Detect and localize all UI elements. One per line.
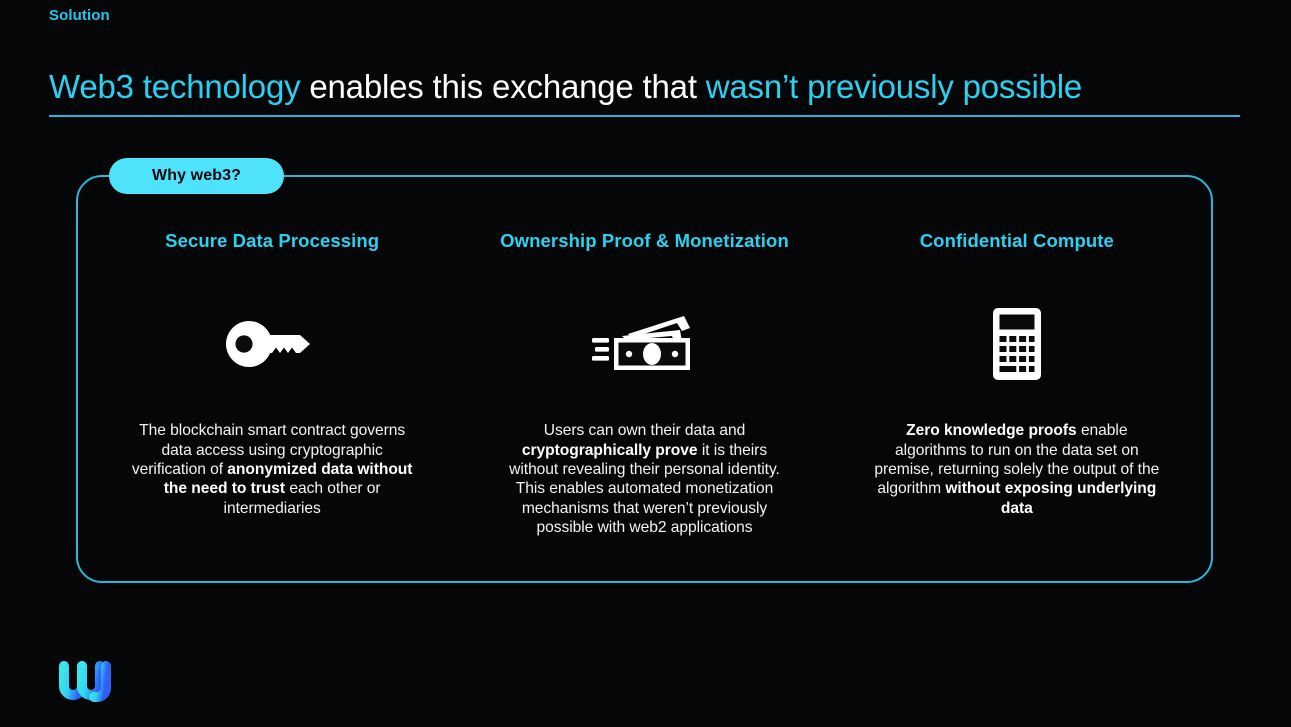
slide-kicker: Solution bbox=[49, 7, 110, 24]
feature-column-confidential-compute: Confidential Compute bbox=[831, 230, 1203, 583]
money-icon bbox=[592, 294, 696, 394]
calculator-icon bbox=[993, 294, 1041, 394]
column-body: Zero knowledge proofs enable algorithms … bbox=[873, 421, 1161, 518]
column-title: Confidential Compute bbox=[920, 230, 1114, 252]
column-body-bold-2: without exposing underlying data bbox=[945, 480, 1156, 516]
feature-columns: Secure Data Processing The blockchain sm… bbox=[76, 175, 1213, 583]
feature-column-ownership-proof-monetization: Ownership Proof & Monetization Users can… bbox=[458, 230, 830, 583]
column-title: Secure Data Processing bbox=[165, 230, 379, 252]
page-title: Web3 technology enables this exchange th… bbox=[49, 68, 1249, 106]
headline-divider bbox=[49, 115, 1240, 117]
column-body-lead: Users can own their data and bbox=[544, 422, 745, 439]
column-body-bold: cryptographically prove bbox=[522, 442, 698, 459]
headline-accent-lead: Web3 technology bbox=[49, 68, 300, 105]
key-icon bbox=[226, 294, 318, 394]
w-logo bbox=[52, 655, 118, 707]
column-body: The blockchain smart contract governs da… bbox=[128, 421, 416, 518]
headline-middle: enables this exchange that bbox=[300, 68, 705, 105]
column-body: Users can own their data and cryptograph… bbox=[500, 421, 788, 537]
headline-accent-tail: wasn’t previously possible bbox=[706, 68, 1082, 105]
column-body-bold: Zero knowledge proofs bbox=[906, 422, 1077, 439]
column-title: Ownership Proof & Monetization bbox=[500, 230, 789, 252]
feature-column-secure-data-processing: Secure Data Processing The blockchain sm… bbox=[86, 230, 458, 583]
